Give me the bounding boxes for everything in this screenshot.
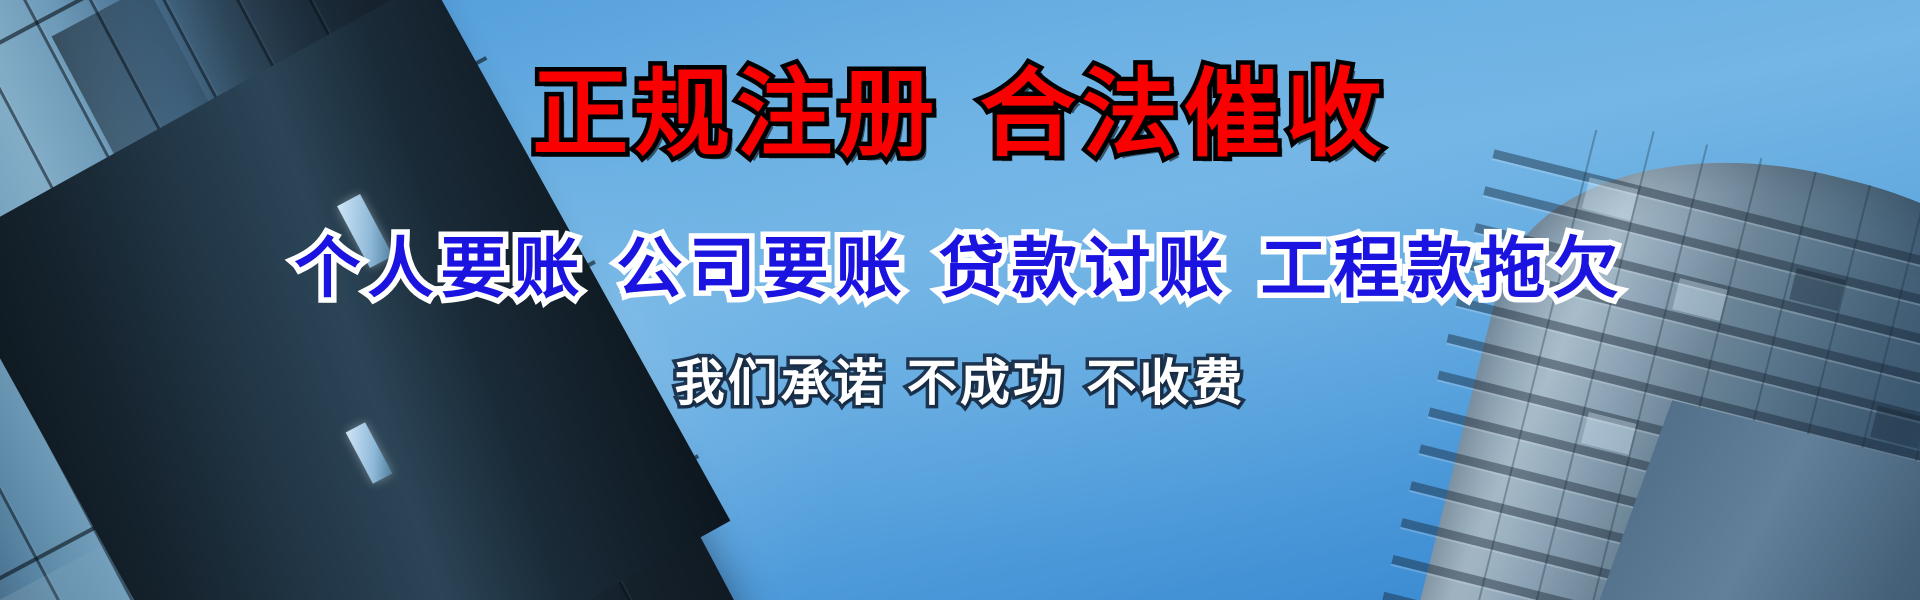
promo-banner: 正规注册 合法催收 个人要账 公司要账 贷款讨账 工程款拖欠 我们承诺 不成功 … xyxy=(0,0,1920,600)
banner-promise-text: 我们承诺 不成功 不收费 xyxy=(0,358,1920,408)
banner-services-list: 个人要账 公司要账 贷款讨账 工程款拖欠 xyxy=(0,236,1920,302)
banner-headline: 正规注册 合法催收 xyxy=(0,66,1920,162)
